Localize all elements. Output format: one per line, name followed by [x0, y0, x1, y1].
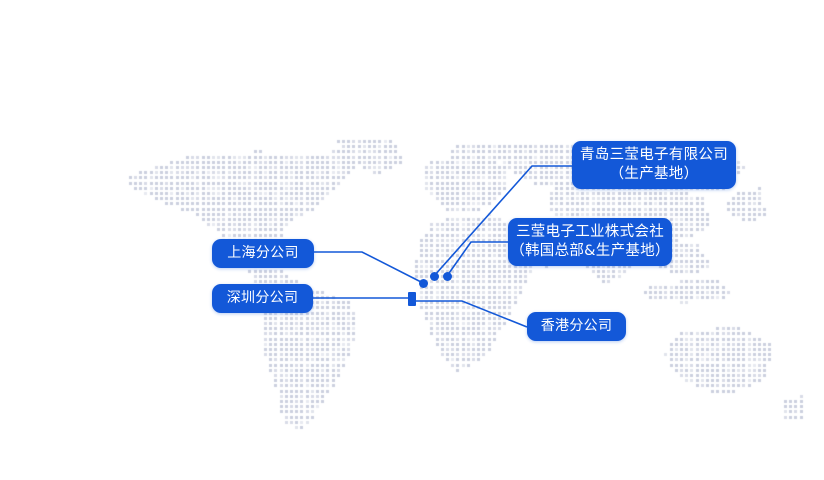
label-box-korea-hq[interactable]: 三莹电子工业株式会社 （韩国总部&生产基地） — [508, 218, 672, 266]
label-box-hongkong[interactable]: 香港分公司 — [527, 312, 626, 341]
label-hongkong-line1: 香港分公司 — [541, 317, 613, 335]
label-qingdao-line2: （生产基地） — [610, 165, 699, 184]
label-korea-line1: 三莹电子工业株式会社 — [516, 223, 664, 242]
map-marker-qingdao[interactable] — [430, 272, 439, 281]
label-box-shenzhen[interactable]: 深圳分公司 — [212, 284, 313, 313]
label-box-qingdao[interactable]: 青岛三莹电子有限公司 （生产基地） — [572, 141, 736, 189]
world-map-infographic: 青岛三莹电子有限公司 （生产基地） 三莹电子工业株式会社 （韩国总部&生产基地）… — [0, 0, 824, 480]
map-marker-hongkong[interactable] — [408, 297, 416, 306]
map-marker-korea[interactable] — [443, 272, 452, 281]
label-qingdao-line1: 青岛三莹电子有限公司 — [580, 146, 728, 165]
label-box-shanghai[interactable]: 上海分公司 — [212, 239, 314, 268]
label-korea-line2: （韩国总部&生产基地） — [510, 242, 670, 261]
label-shanghai-line1: 上海分公司 — [227, 244, 299, 262]
dotted-world-map — [0, 0, 824, 480]
map-marker-shanghai[interactable] — [419, 279, 428, 288]
label-shenzhen-line1: 深圳分公司 — [227, 289, 299, 307]
